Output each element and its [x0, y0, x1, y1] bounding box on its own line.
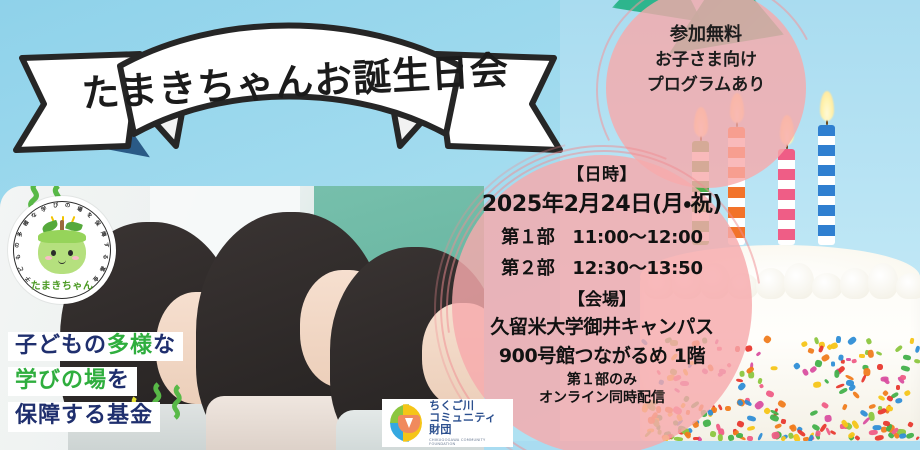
logo-character-name: たまきちゃん: [8, 277, 116, 292]
session-2: 第２部 12:30〜13:50: [452, 254, 752, 280]
fund-slogan: 子どもの多様な 学びの場を 保障する基金: [8, 332, 218, 438]
foundation-name-en-2: FOUNDATION: [429, 442, 505, 446]
badge-line-3: プログラムあり: [606, 73, 806, 98]
foundation-mark-icon: [390, 404, 422, 442]
foundation-name-jp-1: ちくご川: [429, 400, 505, 412]
slogan-1b: 多様: [107, 333, 153, 358]
foundation-logo-text: ちくご川 コミュニティ財団 CHIKUGOGAWA COMMUNITY FOUN…: [429, 400, 505, 447]
slogan-1a: 子どもの: [15, 333, 107, 358]
session-1: 第１部 11:00〜12:00: [452, 223, 752, 249]
chikugogawa-foundation-logo: ちくご川 コミュニティ財団 CHIKUGOGAWA COMMUNITY FOUN…: [382, 399, 513, 447]
slogan-line-1: 子どもの多様な: [8, 332, 183, 361]
slogan-1c: な: [153, 333, 176, 358]
slogan-3a: 保障する基金: [15, 403, 153, 428]
foundation-name-jp-2: コミュニティ財団: [429, 412, 505, 437]
badge-line-1: 参加無料: [606, 22, 806, 48]
tamaki-chan-logo: 子どもの多様な学びの場を保障する基金 たまきちゃん: [8, 196, 116, 304]
free-admission-badge-text: 参加無料 お子さま向け プログラムあり: [606, 22, 806, 97]
title-ribbon-banner: たまきちゃんお誕生日会: [8, 6, 568, 154]
slogan-2b: を: [107, 368, 130, 393]
venue-header: 【会場】: [452, 285, 752, 310]
poster-canvas: ⌇⌇ ⌇⌇ ⌇⌇ ⌇ たまきちゃんお誕生日会 参加無料 お子さま向け プログラム…: [0, 0, 920, 450]
slogan-line-2: 学びの場を: [8, 367, 137, 396]
venue-line-2: 900号館つながるめ 1階: [452, 341, 752, 368]
slogan-line-3: 保障する基金: [8, 402, 160, 431]
online-note-line-1: 第１部のみ: [452, 372, 752, 390]
candle-4: [818, 125, 835, 245]
event-info-text: 【日時】 2025年2月24日(月・祝) 第１部 11:00〜12:00 第２部…: [452, 160, 752, 407]
apple-character-icon: [38, 230, 86, 274]
venue-line-1: 久留米大学御井キャンパス: [452, 312, 752, 339]
badge-line-2: お子さま向け: [606, 48, 806, 73]
datetime-header: 【日時】: [452, 160, 752, 185]
event-date: 2025年2月24日(月・祝): [452, 186, 752, 218]
slogan-2a: 学びの場: [15, 368, 107, 393]
